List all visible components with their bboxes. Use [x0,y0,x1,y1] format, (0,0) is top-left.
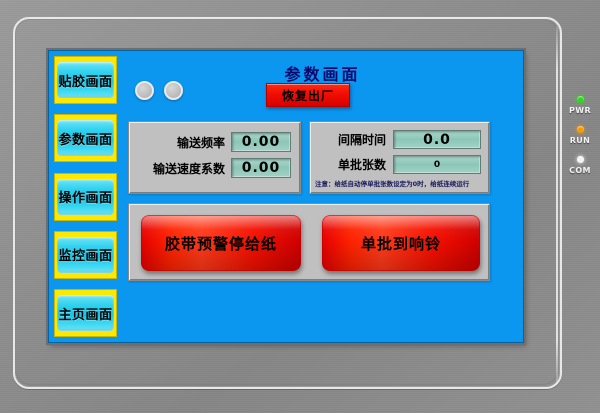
sidebar-item-monitor[interactable]: 监控画面 [54,231,117,279]
comm-led-icon [577,156,584,163]
restore-factory-button[interactable]: 恢复出厂 [266,83,350,107]
sidebar-item-label: 贴胶画面 [58,71,112,90]
sidebar-item-label: 主页画面 [58,304,112,323]
restore-factory-label: 恢复出厂 [282,87,334,104]
sheets-per-batch-input[interactable]: 0 [393,155,481,174]
action-button-label: 胶带预警停给纸 [165,233,277,254]
sidebar-item-home[interactable]: 主页画面 [54,289,117,337]
sidebar-item-label: 操作画面 [58,187,112,206]
sidebar-nav: 贴胶画面 参数画面 操作画面 监控画面 主页画面 [48,50,121,343]
action-button-label: 单批到响铃 [361,233,441,254]
param-value: 0.00 [242,160,281,176]
sidebar-item-operation[interactable]: 操作画面 [54,173,117,221]
param-label: 间隔时间 [320,131,386,148]
sidebar-item-taping[interactable]: 贴胶画面 [54,56,117,104]
hmi-device-panel: 贴胶画面 参数画面 操作画面 监控画面 主页画面 参数画面 [0,0,600,413]
indicator-lamp-2-icon [164,81,183,100]
conveying-frequency-input[interactable]: 0.00 [231,132,291,152]
batch-complete-bell-button[interactable]: 单批到响铃 [322,215,480,271]
sidebar-item-label: 监控画面 [58,245,112,264]
param-value: 0 [434,160,440,170]
batch-parameters-group: 间隔时间 0.0 单批张数 0 注意：给纸自动停单批张数设定为0时，给纸连续运行 [309,121,490,194]
led-label: PWR [569,106,591,115]
status-led-strip: PWR RUN COM [566,96,594,175]
screen-content: 参数画面 恢复出厂 输送频率 0.00 输送速度系数 0.00 [121,50,524,343]
page-title: 参数画面 [121,61,524,85]
indicator-lamp-1-icon [135,81,154,100]
action-buttons-group: 胶带预警停给纸 单批到响铃 [128,203,490,281]
sidebar-item-label: 参数画面 [58,129,112,148]
param-row-interval-time: 间隔时间 0.0 [320,130,483,149]
tape-warning-stop-feed-button[interactable]: 胶带预警停给纸 [141,215,301,271]
conveying-parameters-group: 输送频率 0.00 输送速度系数 0.00 [128,121,301,194]
interval-time-input[interactable]: 0.0 [393,130,481,149]
batch-parameters-note: 注意：给纸自动停单批张数设定为0时，给纸连续运行 [315,180,473,189]
conveying-speed-coefficient-input[interactable]: 0.00 [231,158,291,178]
run-led-icon [577,126,584,133]
param-value: 0.0 [423,132,451,148]
param-row-conveying-speed-coefficient: 输送速度系数 0.00 [137,158,294,178]
power-led-icon [577,96,584,103]
param-row-conveying-frequency: 输送频率 0.00 [137,132,294,152]
led-label: COM [569,166,591,175]
bezel-divider-line [556,26,558,384]
param-label: 输送频率 [137,134,225,151]
sidebar-item-parameters[interactable]: 参数画面 [54,114,117,162]
led-label: RUN [570,136,591,145]
lcd-screen: 贴胶画面 参数画面 操作画面 监控画面 主页画面 参数画面 [48,50,524,343]
param-row-sheets-per-batch: 单批张数 0 [320,155,483,174]
param-label: 单批张数 [320,156,386,173]
led-item-run: RUN [570,126,591,145]
param-value: 0.00 [242,134,281,150]
param-label: 输送速度系数 [137,160,225,177]
led-item-com: COM [569,156,591,175]
led-item-pwr: PWR [569,96,591,115]
